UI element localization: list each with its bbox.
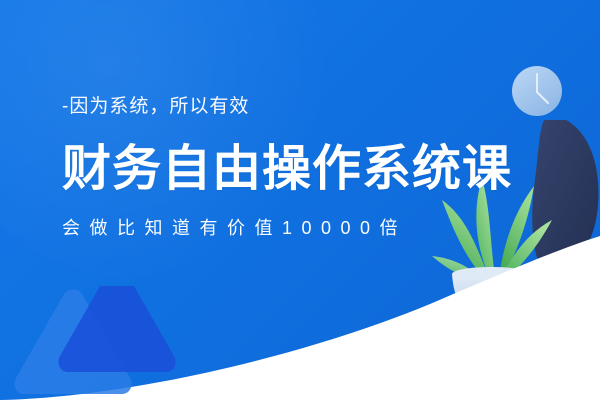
course-promo-banner: -因为系统，所以有效 财务自由操作系统课 会做比知道有价值10000倍 [0,0,600,412]
banner-headline: 财务自由操作系统课 [62,143,562,196]
triangle-decorations [0,286,210,412]
banner-tagline: -因为系统，所以有效 [62,96,562,119]
banner-subline: 会做比知道有价值10000倍 [62,218,562,240]
banner-text-block: -因为系统，所以有效 财务自由操作系统课 会做比知道有价值10000倍 [62,96,562,239]
